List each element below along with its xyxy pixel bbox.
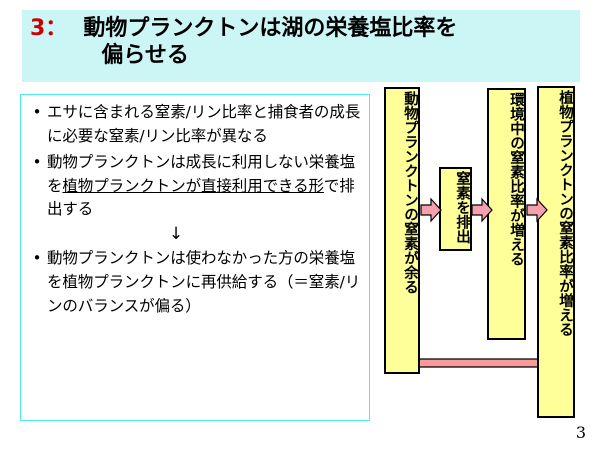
bullet-marker: • <box>27 247 47 270</box>
bullet-text: 動物プランクトンは使わなかった方の栄養塩を植物プランクトンに再供給する（＝窒素/… <box>47 247 365 318</box>
down-arrow-glyph: ↓ <box>27 225 365 244</box>
slide-number-label: 3： <box>30 16 81 43</box>
bullet-text: 動物プランクトンは成長に利用しない栄養塩を植物プランクトンが直接利用できる形で排… <box>47 151 365 222</box>
list-item: • エサに含まれる窒素/リン比率と捕食者の成長に必要な窒素/リン比率が異なる <box>27 101 365 148</box>
flow-box-excrete-nitrogen: 窒素を排出 <box>439 167 472 251</box>
flow-arrow-right-icon <box>420 197 442 223</box>
list-item: • 動物プランクトンは使わなかった方の栄養塩を植物プランクトンに再供給する（＝窒… <box>27 247 365 318</box>
bullet-segment: 動物プランクトンは成長に利用しな <box>47 153 293 171</box>
bullet-text: エサに含まれる窒素/リン比率と捕食者の成長に必要な窒素/リン比率が異なる <box>47 101 365 148</box>
page-number: 3 <box>576 423 586 442</box>
flow-arrow-right-icon <box>526 197 548 223</box>
flow-arrow-right-icon <box>471 197 493 223</box>
flow-diagram: 動物プランクトンの窒素が余る 窒素を排出 環境中の窒素比率が増える 植物プランク… <box>376 84 600 424</box>
bullet-segment-underlined: 植物プランクトンが直接利用できる形 <box>62 177 324 195</box>
bullet-marker: • <box>27 151 47 174</box>
bullet-marker: • <box>27 101 47 124</box>
title-line-2: 偏らせる <box>83 43 576 70</box>
bullet-list-panel: • エサに含まれる窒素/リン比率と捕食者の成長に必要な窒素/リン比率が異なる •… <box>20 94 370 421</box>
flow-box-zooplankton-nitrogen-surplus: 動物プランクトンの窒素が余る <box>384 87 420 374</box>
page-title: 動物プランクトンは湖の栄養塩比率を 偏らせる <box>81 16 576 70</box>
bullet-segment: 動物プランクトンは使わなかった方の栄養塩を植物プランクトンに再供給する（＝窒素/… <box>47 249 360 314</box>
list-item: • 動物プランクトンは成長に利用しない栄養塩を植物プランクトンが直接利用できる形… <box>27 151 365 222</box>
title-row: 3： 動物プランクトンは湖の栄養塩比率を 偏らせる <box>30 16 576 70</box>
title-line-1: 動物プランクトンは湖の栄養塩比率を <box>83 16 457 41</box>
flow-box-phytoplankton-nitrogen-ratio-increases: 植物プランクトンの窒素比率が増える <box>537 86 575 418</box>
bullet-segment: エサに含まれる窒素/リン比率と捕食者の成長に必要な窒素/リン比率が異なる <box>47 103 360 145</box>
slide-title-band: 3： 動物プランクトンは湖の栄養塩比率を 偏らせる <box>22 10 580 82</box>
